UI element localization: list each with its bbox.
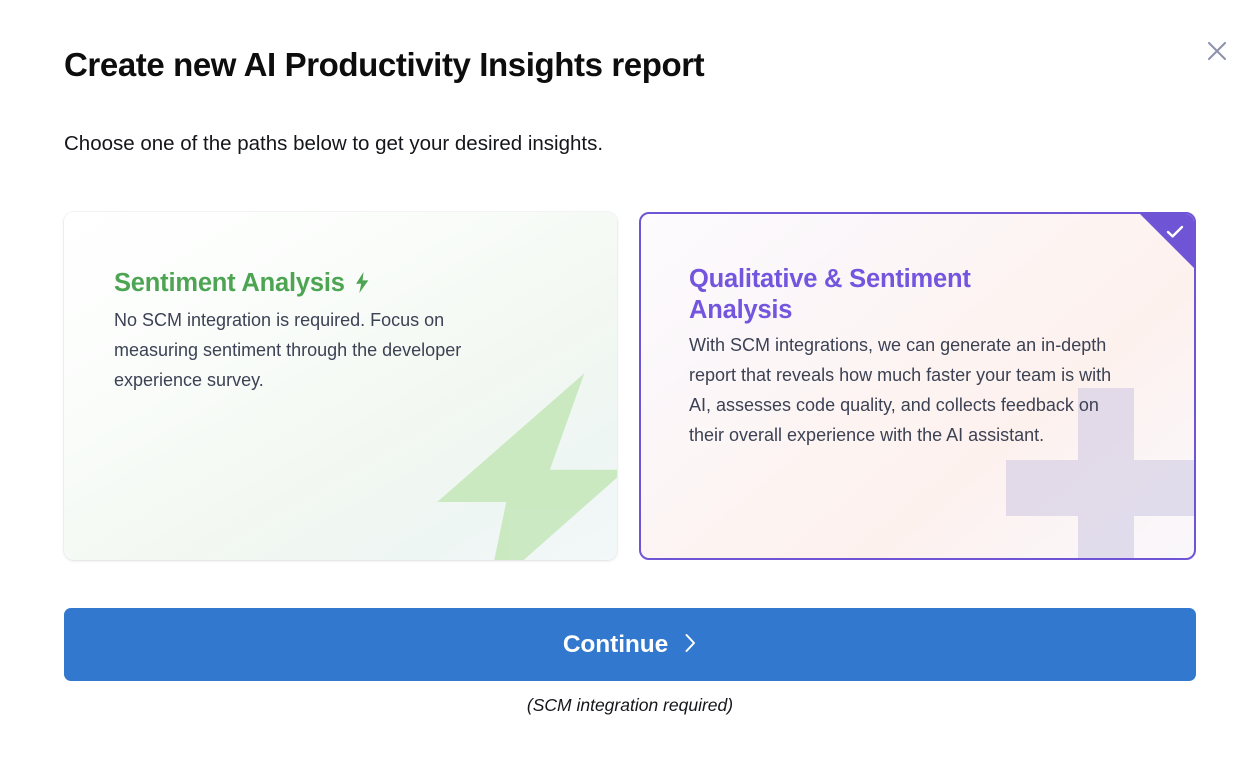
card-heading: Sentiment Analysis	[114, 268, 617, 299]
chevron-right-icon	[684, 632, 697, 660]
continue-button[interactable]: Continue	[64, 608, 1196, 681]
create-report-modal: Create new AI Productivity Insights repo…	[0, 0, 1260, 784]
selected-badge	[1140, 214, 1194, 268]
close-icon	[1206, 40, 1228, 62]
option-card-qualitative-sentiment-analysis[interactable]: Qualitative & Sentiment Analysis With SC…	[639, 212, 1196, 560]
option-card-sentiment-analysis[interactable]: Sentiment Analysis No SCM integration is…	[64, 212, 617, 560]
card-content: Qualitative & Sentiment Analysis With SC…	[641, 214, 1194, 451]
page-title: Create new AI Productivity Insights repo…	[64, 45, 704, 85]
path-options: Sentiment Analysis No SCM integration is…	[64, 212, 1196, 560]
check-icon	[1166, 225, 1184, 244]
card-heading: Qualitative & Sentiment Analysis	[689, 264, 1041, 326]
card-description: With SCM integrations, we can generate a…	[689, 331, 1129, 451]
scm-requirement-note: (SCM integration required)	[0, 695, 1260, 716]
continue-button-label: Continue	[563, 631, 668, 659]
close-button[interactable]	[1200, 34, 1234, 68]
lightning-bolt-icon	[354, 272, 371, 293]
card-content: Sentiment Analysis No SCM integration is…	[64, 212, 617, 396]
page-subtitle: Choose one of the paths below to get you…	[64, 131, 603, 158]
card-description: No SCM integration is required. Focus on…	[114, 306, 524, 396]
card-heading-text: Sentiment Analysis	[114, 268, 345, 299]
